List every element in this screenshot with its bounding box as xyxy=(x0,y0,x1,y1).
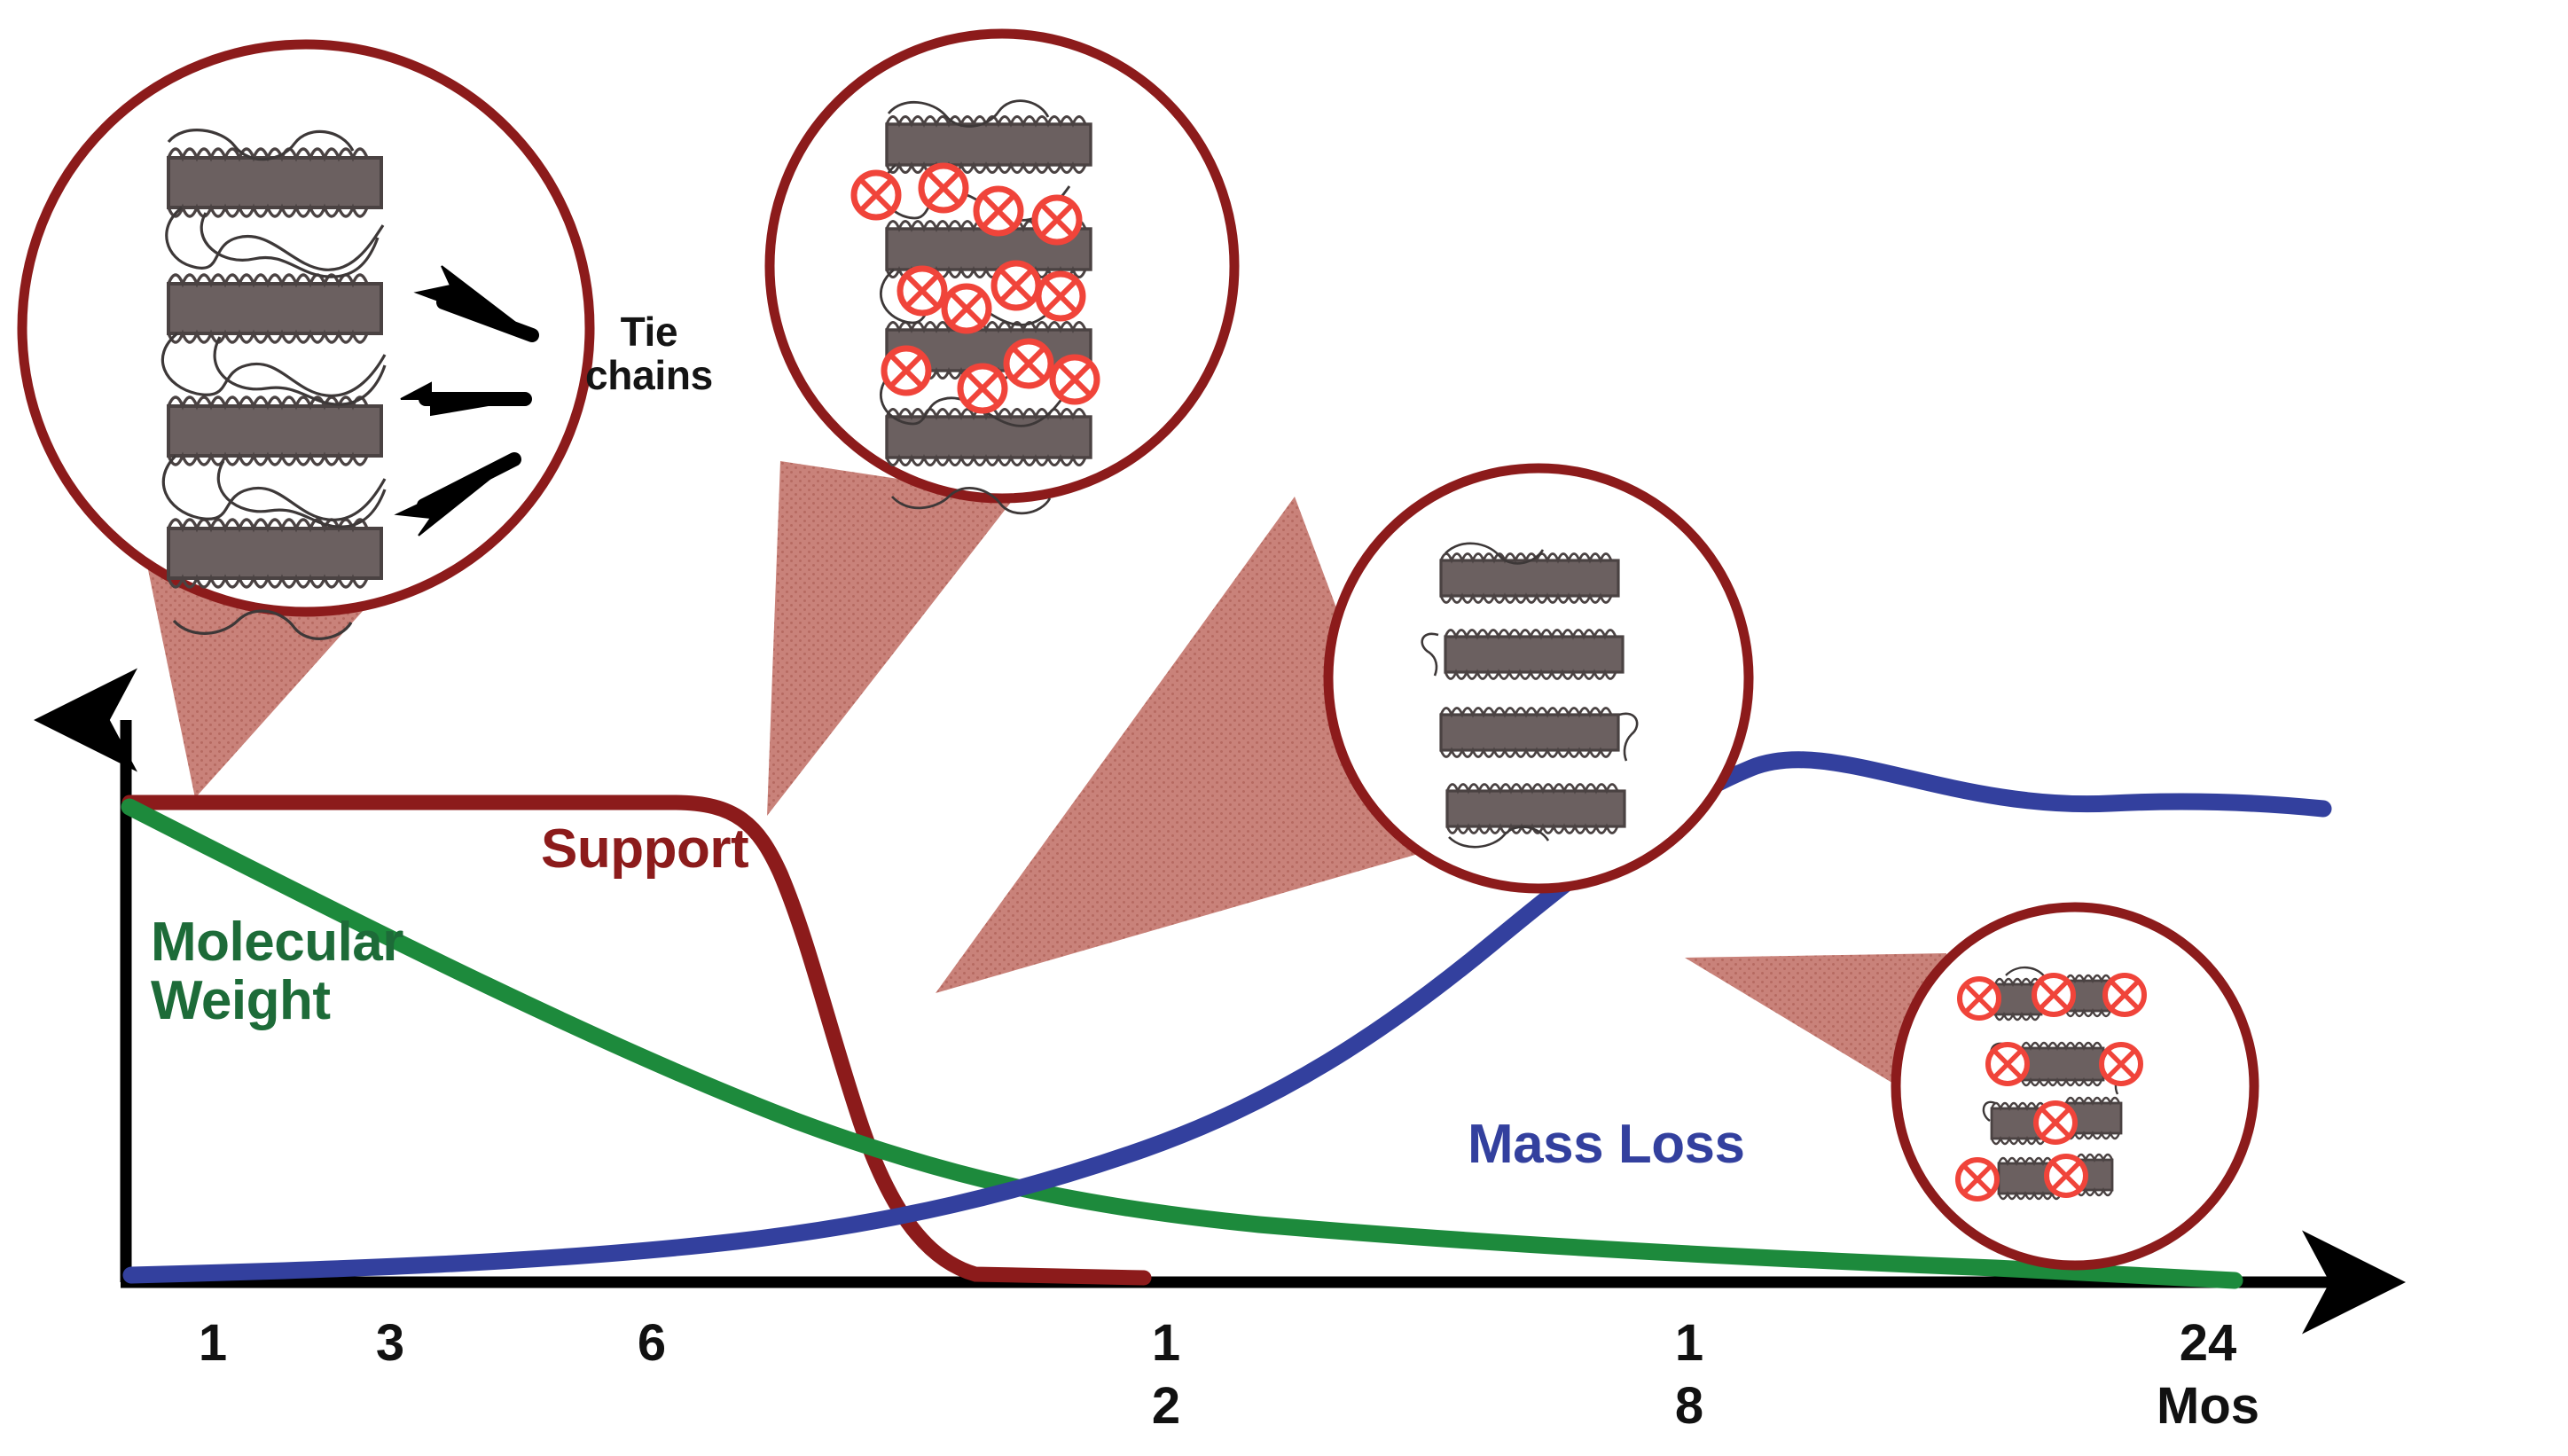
x-tick-2: 3 xyxy=(324,1312,457,1375)
x-tick-3: 6 xyxy=(585,1312,718,1375)
x-tick-6: 24 Mos xyxy=(2141,1312,2274,1438)
callout-fragmented-crystallites xyxy=(0,0,2568,1456)
series-label-mass-loss: Mass Loss xyxy=(1468,1115,1745,1174)
series-label-support: Support xyxy=(541,820,748,879)
x-tick-4: 1 2 xyxy=(1100,1312,1233,1438)
x-tick-5: 1 8 xyxy=(1623,1312,1756,1438)
callout-ring-4 xyxy=(1896,907,2254,1265)
figure-canvas: Support Molecular Weight Mass Loss Tie c… xyxy=(0,0,2568,1456)
x-tick-1: 1 xyxy=(146,1312,279,1375)
annotation-tie-chains: Tie chains xyxy=(585,310,713,397)
callout-4-group xyxy=(1896,907,2254,1265)
series-label-molecular-weight: Molecular Weight xyxy=(151,913,403,1029)
